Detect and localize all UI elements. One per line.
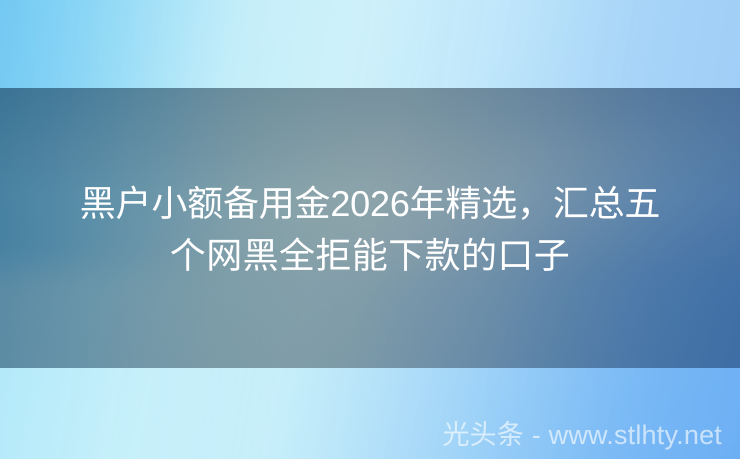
headline-text: 黑户小额备用金2026年精选，汇总五 个网黑全拒能下款的口子 — [0, 178, 740, 282]
headline-line-2: 个网黑全拒能下款的口子 — [0, 230, 740, 282]
headline-line-1: 黑户小额备用金2026年精选，汇总五 — [0, 178, 740, 230]
poster-image: 黑户小额备用金2026年精选，汇总五 个网黑全拒能下款的口子 光头条 - www… — [0, 0, 740, 459]
site-watermark: 光头条 - www.stlhty.net — [442, 419, 722, 451]
